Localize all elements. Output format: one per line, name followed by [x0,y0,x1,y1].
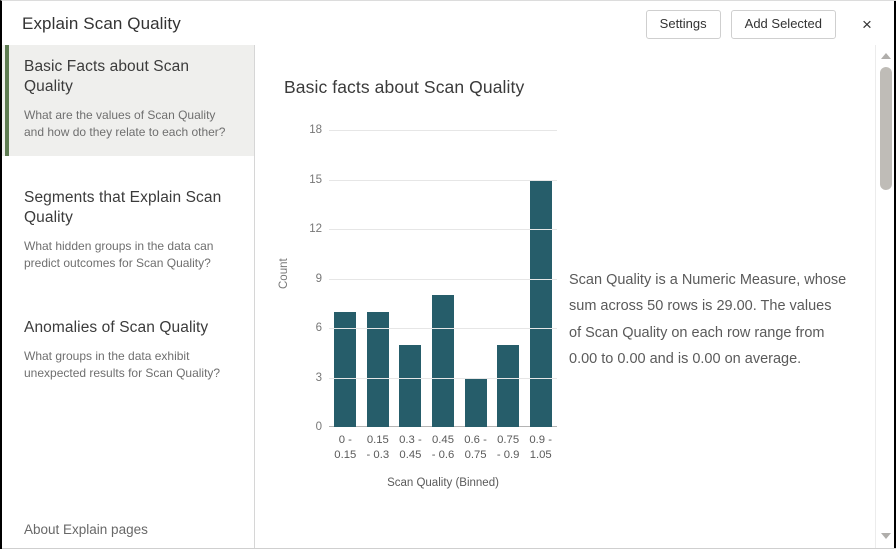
close-icon[interactable]: × [854,12,880,38]
scan-quality-histogram: Count 0369121518 0 -0.150.15- 0.30.3 -0.… [266,117,586,537]
bar[interactable] [497,345,519,428]
x-axis-tick: 0.9 -1.05 [524,433,558,464]
sidebar-item-title: Segments that Explain Scan Quality [24,188,232,229]
plot-area: 0369121518 [329,130,557,427]
bar[interactable] [465,378,487,428]
sidebar-item-description: What hidden groups in the data can predi… [24,238,232,273]
gridline [329,328,557,329]
scrollbar-thumb[interactable] [880,67,892,190]
y-axis-tick: 3 [316,372,322,384]
header-actions: Settings Add Selected × [646,10,880,39]
gridline [329,279,557,280]
gridline [329,229,557,230]
x-axis-ticks: 0 -0.150.15- 0.30.3 -0.450.45- 0.60.6 -0… [329,433,557,469]
y-axis-tick: 0 [316,421,322,433]
x-axis-tick: 0 -0.15 [328,433,362,464]
gridline [329,378,557,379]
add-selected-button[interactable]: Add Selected [731,10,836,39]
section-title: Basic facts about Scan Quality [284,77,524,98]
narrative-text: Scan Quality is a Numeric Measure, whose… [569,267,847,373]
vertical-scrollbar[interactable] [875,45,896,549]
y-axis-tick: 18 [309,124,322,136]
x-axis-tick: 0.45- 0.6 [426,433,460,464]
x-axis-tick: 0.3 -0.45 [393,433,427,464]
explain-dialog: Explain Scan Quality Settings Add Select… [0,0,896,549]
x-axis-tick: 0.75- 0.9 [491,433,525,464]
sidebar-item-description: What groups in the data exhibit unexpect… [24,348,232,383]
y-axis-tick: 6 [316,322,322,334]
sidebar-item-basic-facts[interactable]: Basic Facts about Scan Quality What are … [2,45,254,156]
bar[interactable] [399,345,421,428]
main-content: Basic facts about Scan Quality Count 036… [256,45,876,549]
sidebar-spacer [2,286,254,306]
gridline [329,180,557,181]
gridline [329,130,557,131]
settings-button[interactable]: Settings [646,10,721,39]
scroll-up-icon[interactable] [876,47,896,65]
page-title: Explain Scan Quality [22,14,181,34]
bar[interactable] [432,295,454,427]
sidebar-item-anomalies[interactable]: Anomalies of Scan Quality What groups in… [2,306,254,396]
y-axis-tick: 9 [316,273,322,285]
x-axis-label: Scan Quality (Binned) [329,477,557,489]
dialog-header: Explain Scan Quality Settings Add Select… [2,1,896,45]
about-explain-pages-link[interactable]: About Explain pages [24,522,148,537]
x-axis-tick: 0.6 -0.75 [459,433,493,464]
sidebar-item-segments[interactable]: Segments that Explain Scan Quality What … [2,176,254,287]
sidebar-item-title: Basic Facts about Scan Quality [24,57,232,98]
sidebar: Basic Facts about Scan Quality What are … [2,45,255,549]
sidebar-item-title: Anomalies of Scan Quality [24,318,232,338]
x-axis-tick: 0.15- 0.3 [361,433,395,464]
y-axis-tick: 12 [309,223,322,235]
bar[interactable] [530,180,552,428]
scroll-down-icon[interactable] [876,527,896,545]
sidebar-item-description: What are the values of Scan Quality and … [24,107,232,142]
sidebar-spacer [2,156,254,176]
y-axis-tick: 15 [309,174,322,186]
y-axis-label: Count [278,258,290,289]
